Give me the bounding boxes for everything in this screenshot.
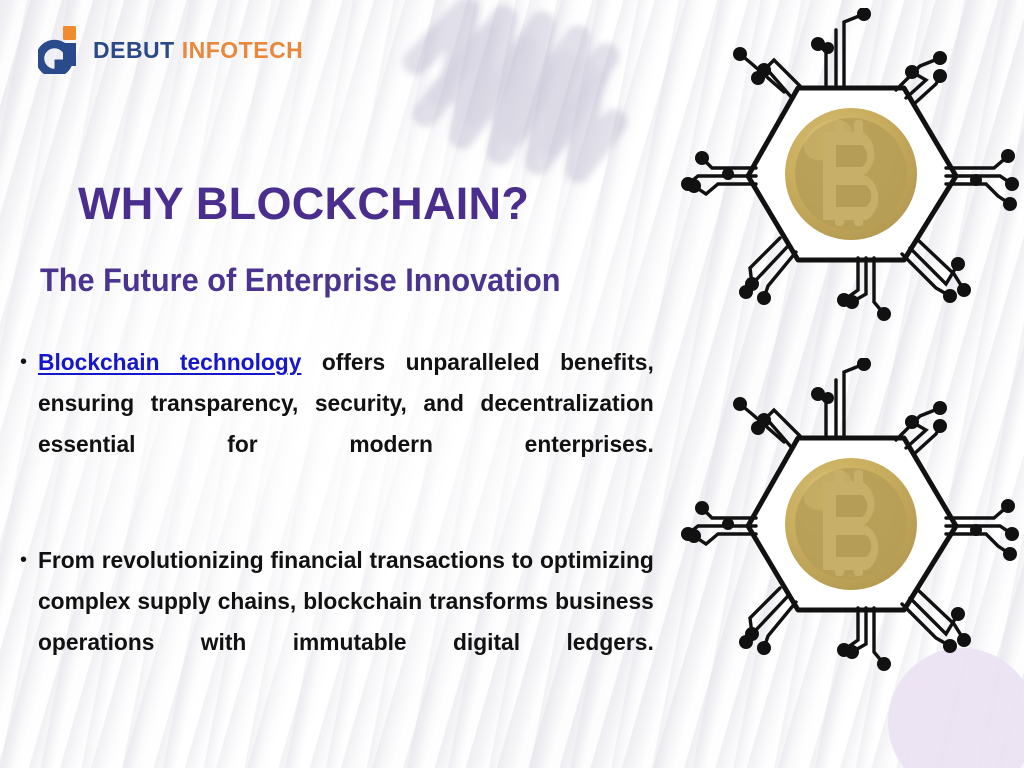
debut-infotech-d-mark-icon (38, 26, 82, 74)
blockchain-hexagon-bitcoin-top-icon (668, 8, 1024, 332)
purple-scribble-doodle-icon (392, 0, 642, 194)
page-subtitle: The Future of Enterprise Innovation (40, 262, 561, 299)
bullet-rest-text: From revolutionizing financial transacti… (38, 547, 654, 655)
bullet-marker-icon: • (20, 540, 38, 581)
list-item: • Blockchain technology offers unparalle… (20, 342, 660, 506)
brand-logo[interactable]: DEBUTINFOTECH (38, 26, 303, 74)
bullet-list: • Blockchain technology offers unparalle… (20, 342, 660, 738)
bullet-marker-icon: • (20, 342, 38, 383)
brand-logo-wordmark: DEBUTINFOTECH (93, 37, 303, 64)
brand-word-infotech: INFOTECH (182, 37, 304, 63)
blockchain-hexagon-bitcoin-bottom-icon (668, 358, 1024, 682)
brand-word-debut: DEBUT (93, 37, 175, 63)
page-title: WHY BLOCKCHAIN? (78, 178, 529, 230)
bullet-text: Blockchain technology offers unparallele… (38, 342, 654, 506)
list-item: • From revolutionizing financial transac… (20, 540, 660, 704)
slide-canvas: DEBUTINFOTECH WHY BLOCKCHAIN? The Future… (0, 0, 1024, 768)
bullet-text: From revolutionizing financial transacti… (38, 540, 654, 704)
blockchain-technology-link[interactable]: Blockchain technology (38, 349, 301, 375)
